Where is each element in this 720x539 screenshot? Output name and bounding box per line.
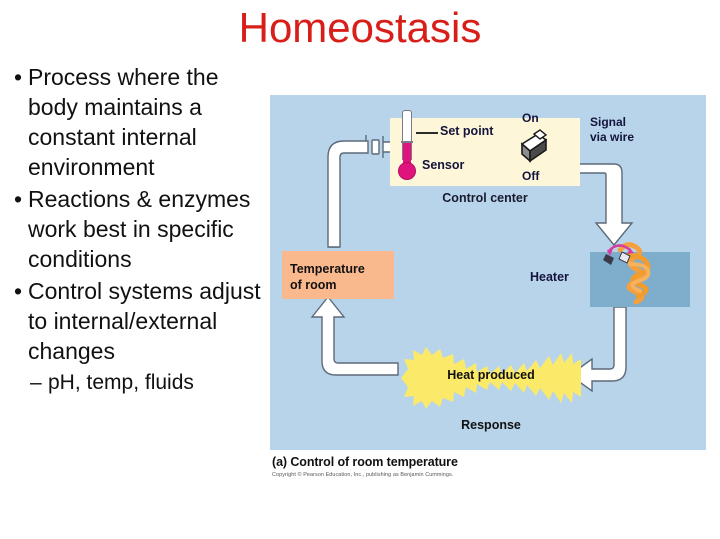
figure-panel: Set point Sensor On Off Control center S… (270, 95, 706, 450)
heat-produced-label: Heat produced (401, 368, 581, 382)
switch-on-label: On (522, 111, 539, 125)
temperature-of-room-label: Temperature of room (290, 261, 390, 293)
list-item: • Control systems adjust to internal/ext… (8, 276, 264, 366)
heater-label: Heater (530, 270, 569, 284)
figure-caption-block: (a) Control of room temperature Copyrigh… (272, 455, 702, 478)
bullet-list: • Process where the body maintains a con… (8, 62, 264, 398)
thermometer-bulb (398, 162, 416, 180)
heater-coil-icon (590, 238, 690, 310)
control-center-label: Control center (390, 191, 580, 205)
page-title: Homeostasis (0, 2, 720, 54)
arrow-temperature-to-control (330, 135, 366, 247)
arrow-gap-dash (372, 140, 379, 154)
bullet-marker-icon: • (8, 276, 28, 306)
sensor-label: Sensor (422, 158, 464, 172)
set-point-label: Set point (440, 124, 493, 138)
bullet-text: Reactions & enzymes work best in specifi… (28, 184, 264, 274)
bullet-text: Control systems adjust to internal/exter… (28, 276, 264, 366)
sub-bullet-text: pH, temp, fluids (48, 368, 194, 398)
arrow-control-to-heater (575, 152, 632, 245)
list-item: • Reactions & enzymes work best in speci… (8, 184, 264, 274)
bullet-text: Process where the body maintains a const… (28, 62, 264, 182)
figure-copyright: Copyright © Pearson Education, Inc., pub… (272, 472, 702, 478)
set-point-leader-line (416, 132, 438, 134)
figure-caption: (a) Control of room temperature (272, 455, 702, 469)
list-item: • Process where the body maintains a con… (8, 62, 264, 182)
signal-line-1: Signal (590, 115, 626, 129)
thermometer-icon (398, 110, 416, 188)
temperature-line-2: of room (290, 278, 337, 292)
response-label: Response (401, 418, 581, 432)
sub-list-item: – pH, temp, fluids (30, 368, 264, 398)
bullet-marker-icon: • (8, 184, 28, 214)
toggle-switch-icon[interactable] (518, 128, 550, 168)
temperature-line-1: Temperature (290, 262, 365, 276)
arrow-response-to-temperature (312, 297, 398, 375)
signal-line-2: via wire (590, 130, 634, 144)
dash-marker-icon: – (30, 368, 48, 398)
bullet-marker-icon: • (8, 62, 28, 92)
signal-via-wire-label: Signal via wire (590, 115, 690, 145)
switch-off-label: Off (522, 169, 539, 183)
arrow-temperature-to-control-stem (328, 141, 368, 247)
thermometer-setpoint-tick (401, 141, 413, 143)
